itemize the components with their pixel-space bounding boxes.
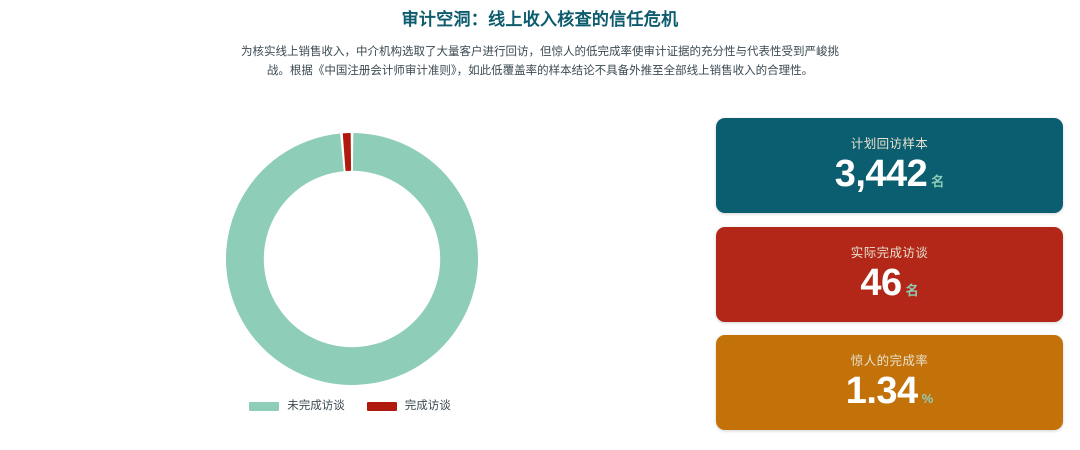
legend-label-incomplete: 未完成访谈 — [287, 400, 345, 413]
donut-slice-group — [226, 133, 478, 385]
legend-swatch-incomplete — [249, 402, 279, 411]
kpi-unit-completed-interviews: 名 — [906, 283, 919, 299]
legend-item-complete[interactable]: 完成访谈 — [367, 400, 451, 413]
header: 审计空洞：线上收入核查的信任危机 为核实线上销售收入，中介机构选取了大量客户进行… — [0, 0, 1080, 81]
kpi-label-planned-sample: 计划回访样本 — [851, 136, 928, 152]
page-title: 审计空洞：线上收入核查的信任危机 — [0, 9, 1080, 31]
kpi-value-completion-rate: 1.34 — [846, 370, 918, 412]
chart-legend: 未完成访谈 完成访谈 — [0, 400, 700, 413]
legend-item-incomplete[interactable]: 未完成访谈 — [249, 400, 345, 413]
donut-chart[interactable] — [226, 133, 478, 385]
legend-swatch-complete — [367, 402, 397, 411]
kpi-unit-planned-sample: 名 — [931, 174, 944, 190]
kpi-label-completion-rate: 惊人的完成率 — [851, 353, 928, 369]
kpi-valueline-completion-rate: 1.34 % — [846, 370, 934, 412]
kpi-valueline-completed-interviews: 46 名 — [860, 262, 918, 304]
legend-label-complete: 完成访谈 — [405, 400, 451, 413]
kpi-value-planned-sample: 3,442 — [835, 153, 928, 195]
kpi-valueline-planned-sample: 3,442 名 — [835, 153, 945, 195]
kpi-label-completed-interviews: 实际完成访谈 — [851, 245, 928, 261]
kpi-unit-completion-rate: % — [922, 391, 934, 407]
kpi-card-completed-interviews[interactable]: 实际完成访谈 46 名 — [716, 227, 1063, 322]
donut-chart-panel: 未完成访谈 完成访谈 — [0, 108, 700, 438]
donut-slice-incomplete[interactable] — [226, 133, 478, 385]
kpi-card-planned-sample[interactable]: 计划回访样本 3,442 名 — [716, 118, 1063, 213]
donut-slice-complete[interactable] — [343, 133, 351, 171]
page-subtitle: 为核实线上销售收入，中介机构选取了大量客户进行回访，但惊人的低完成率使审计证据的… — [235, 43, 845, 81]
kpi-value-completed-interviews: 46 — [860, 262, 901, 304]
kpi-card-stack: 计划回访样本 3,442 名 实际完成访谈 46 名 惊人的完成率 1.34 % — [716, 118, 1063, 430]
kpi-card-completion-rate[interactable]: 惊人的完成率 1.34 % — [716, 335, 1063, 430]
donut-chart-svg — [226, 133, 478, 385]
